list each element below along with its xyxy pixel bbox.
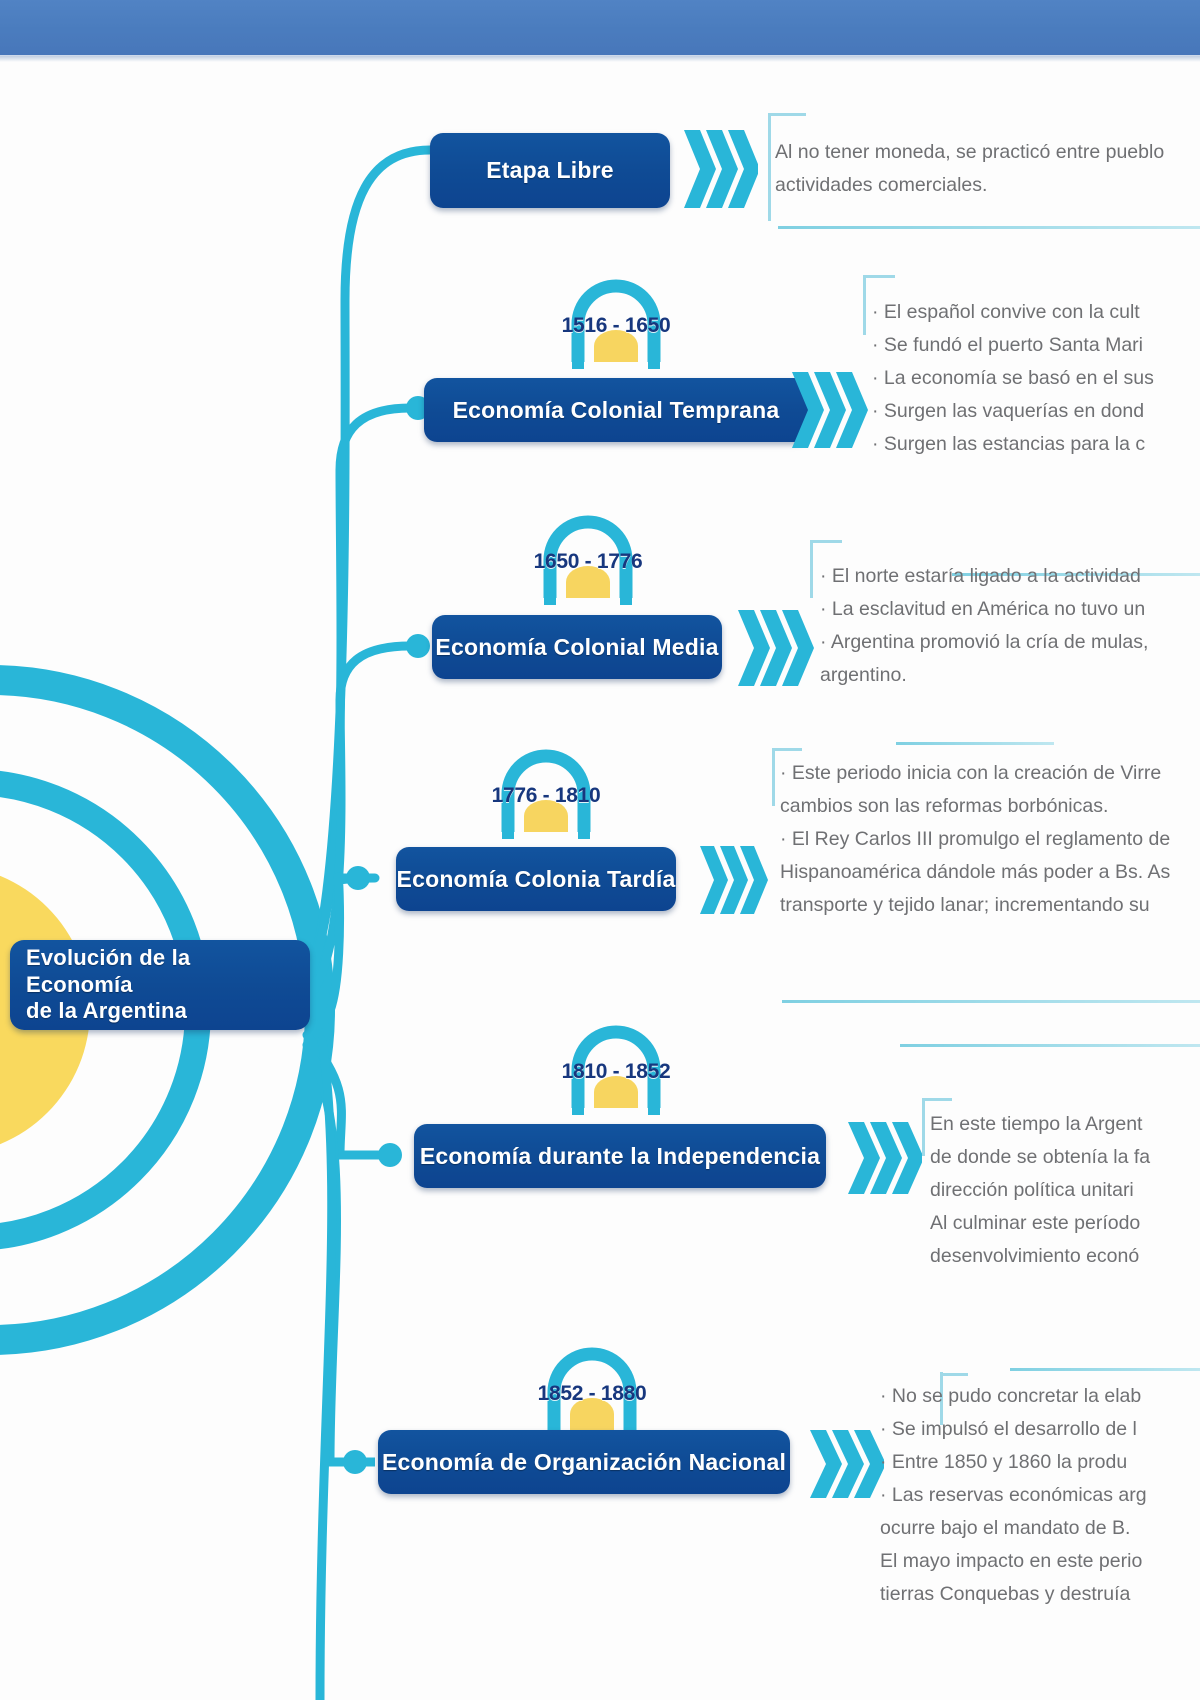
- badge-years: 1776 - 1810: [476, 784, 616, 808]
- date-badge-1650-1776: 1650 - 1776: [518, 498, 658, 606]
- detail-rule-bottom: [782, 1000, 1200, 1003]
- detail-line: desenvolvimiento econó: [930, 1240, 1200, 1273]
- date-badge-1776-1810: 1776 - 1810: [476, 732, 616, 840]
- triple-chevron-right-icon: [698, 842, 768, 918]
- detail-line: dirección política unitari: [930, 1174, 1200, 1207]
- detail-line: Al culminar este período: [930, 1207, 1200, 1240]
- detail-rule-top: [1010, 1368, 1200, 1371]
- detail-line: · La economía se basó en el sus: [872, 362, 1200, 395]
- triple-chevron-right-icon: [790, 368, 868, 452]
- mindmap-canvas: Evolución de la Economía de la Argentina…: [0, 0, 1200, 1700]
- detail-text-independencia: En este tiempo la Argent de donde se obt…: [930, 1108, 1200, 1273]
- branch-label: Economía Colonial Media: [435, 634, 718, 661]
- branch-node-economia-colonial-temprana[interactable]: Economía Colonial Temprana: [424, 378, 808, 442]
- detail-line: argentino.: [820, 659, 1200, 692]
- central-node-line1: Evolución de la Economía: [26, 945, 294, 998]
- detail-line: tierras Conquebas y destruía: [880, 1578, 1200, 1611]
- branch-node-economia-colonia-tardia[interactable]: Economía Colonia Tardía: [396, 847, 676, 911]
- detail-text-colonia-tardia: · Este periodo inicia con la creación de…: [780, 757, 1200, 922]
- central-node-line2: de la Argentina: [26, 998, 294, 1024]
- detail-text-colonial-temprana: · El español convive con la cult · Se fu…: [872, 296, 1200, 461]
- branch-label: Economía de Organización Nacional: [382, 1449, 786, 1476]
- branch-node-etapa-libre[interactable]: Etapa Libre: [430, 133, 670, 208]
- detail-line: · Argentina promovió la cría de mulas,: [820, 626, 1200, 659]
- date-badge-1516-1650: 1516 - 1650: [546, 262, 686, 370]
- detail-line: · El norte estaría ligado a la actividad: [820, 560, 1200, 593]
- triple-chevron-right-icon: [736, 606, 814, 690]
- detail-line: · Se fundó el puerto Santa Mari: [872, 329, 1200, 362]
- date-badge-1810-1852: 1810 - 1852: [546, 1008, 686, 1116]
- detail-text-etapa-libre: Al no tener moneda, se practicó entre pu…: [775, 136, 1200, 202]
- branch-label: Economía Colonia Tardía: [397, 866, 676, 893]
- detail-line: En este tiempo la Argent: [930, 1108, 1200, 1141]
- detail-line: cambios son las reformas borbónicas.: [780, 790, 1200, 823]
- detail-line: · Se impulsó el desarrollo de l: [880, 1413, 1200, 1446]
- branch-node-economia-durante-la-independencia[interactable]: Economía durante la Independencia: [414, 1124, 826, 1188]
- detail-rule: [896, 742, 1054, 745]
- detail-text-colonial-media: · El norte estaría ligado a la actividad…: [820, 560, 1200, 692]
- detail-line: · Entre 1850 y 1860 la produ: [880, 1446, 1200, 1479]
- detail-line: de donde se obtenía la fa: [930, 1141, 1200, 1174]
- detail-line: · Este periodo inicia con la creación de…: [780, 757, 1200, 790]
- detail-line: · Surgen las estancias para la c: [872, 428, 1200, 461]
- triple-chevron-right-icon: [808, 1426, 884, 1502]
- badge-years: 1810 - 1852: [546, 1060, 686, 1084]
- badge-years: 1650 - 1776: [518, 550, 658, 574]
- central-node[interactable]: Evolución de la Economía de la Argentina: [10, 940, 310, 1030]
- branch-node-economia-de-organizacion-nacional[interactable]: Economía de Organización Nacional: [378, 1430, 790, 1494]
- detail-line: · No se pudo concretar la elab: [880, 1380, 1200, 1413]
- detail-line: actividades comerciales.: [775, 169, 1200, 202]
- detail-line: Hispanoamérica dándole más poder a Bs. A…: [780, 856, 1200, 889]
- triple-chevron-right-icon: [846, 1118, 922, 1198]
- detail-line: ocurre bajo el mandato de B.: [880, 1512, 1200, 1545]
- branch-node-economia-colonial-media[interactable]: Economía Colonial Media: [432, 615, 722, 679]
- date-badge-1852-1880: 1852 - 1880: [522, 1330, 662, 1438]
- triple-chevron-right-icon: [682, 124, 758, 214]
- branch-label: Economía Colonial Temprana: [453, 397, 780, 424]
- detail-rule-top: [900, 1044, 1200, 1047]
- detail-line: · El Rey Carlos III promulgo el reglamen…: [780, 823, 1200, 856]
- detail-line: · La esclavitud en América no tuvo un: [820, 593, 1200, 626]
- badge-years: 1852 - 1880: [522, 1382, 662, 1406]
- detail-line: Al no tener moneda, se practicó entre pu…: [775, 136, 1200, 169]
- detail-line: El mayo impacto en este perio: [880, 1545, 1200, 1578]
- detail-line: transporte y tejido lanar; incrementando…: [780, 889, 1200, 922]
- branch-label: Etapa Libre: [486, 157, 613, 184]
- detail-text-organizacion-nacional: · No se pudo concretar la elab · Se impu…: [880, 1380, 1200, 1611]
- detail-rule: [778, 226, 1200, 229]
- detail-line: · Las reservas económicas arg: [880, 1479, 1200, 1512]
- detail-line: · El español convive con la cult: [872, 296, 1200, 329]
- badge-years: 1516 - 1650: [546, 314, 686, 338]
- branch-label: Economía durante la Independencia: [420, 1143, 820, 1170]
- detail-line: · Surgen las vaquerías en dond: [872, 395, 1200, 428]
